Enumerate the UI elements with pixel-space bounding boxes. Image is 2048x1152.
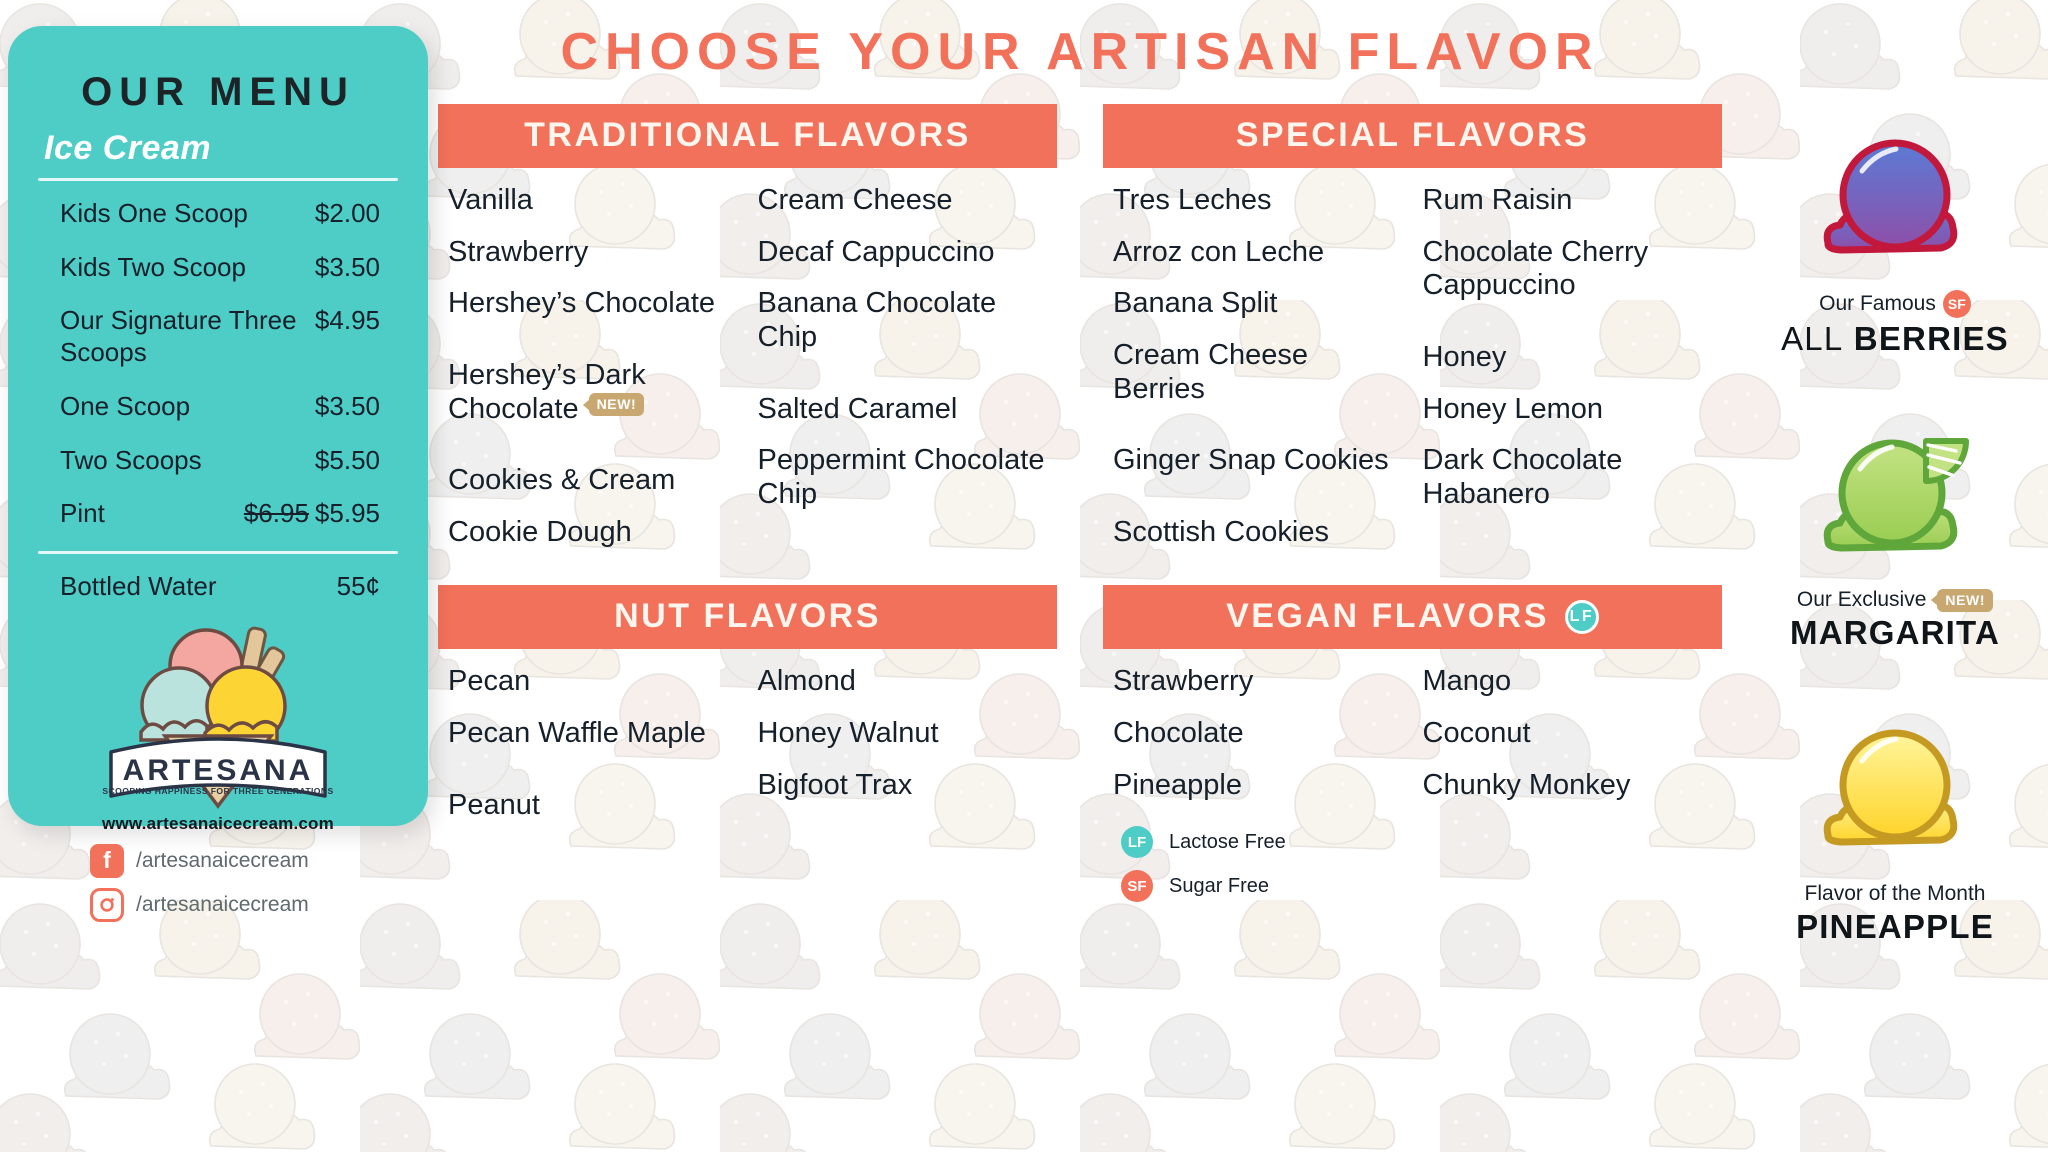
- price-item-name: Two Scoops: [60, 445, 202, 477]
- section-title-vegan: VEGAN FLAVORS: [1226, 597, 1549, 636]
- flavor-name: Salted Caramel: [758, 393, 958, 425]
- flavor-name: Rum Raisin: [1423, 184, 1573, 216]
- section-vegan: VEGAN FLAVORS LF StrawberryChocolatePine…: [1103, 585, 1722, 914]
- instagram-icon: [90, 888, 124, 922]
- price-item-name: Kids Two Scoop: [60, 252, 246, 284]
- price-item-name: Kids One Scoop: [60, 198, 248, 230]
- flavor-name: Honey Lemon: [1423, 393, 1604, 425]
- flavor-grid-special: Tres LechesArroz con LecheBanana SplitCr…: [1103, 168, 1722, 567]
- section-title-traditional: TRADITIONAL FLAVORS: [524, 116, 971, 155]
- price-item-value: $5.50: [315, 445, 380, 477]
- logo-tagline-text: SCOOPING HAPPINESS FOR THREE GENERATIONS: [102, 786, 333, 796]
- flavor-name: Arroz con Leche: [1113, 236, 1324, 268]
- flavor-name: Almond: [758, 665, 856, 697]
- flavor-name: Cookie Dough: [448, 516, 632, 548]
- all-berries-name-thin: ALL: [1781, 320, 1843, 357]
- logo-brand-text: ARTESANA: [123, 754, 314, 787]
- flavor-name: Honey: [1423, 341, 1507, 373]
- section-header-vegan: VEGAN FLAVORS LF: [1103, 585, 1722, 649]
- lactose-free-icon: LF: [1121, 826, 1153, 858]
- flavor-item[interactable]: Vanilla: [448, 184, 740, 218]
- price-row: Pint$6.95$5.95: [38, 487, 398, 541]
- flavor-item[interactable]: Hershey’s Dark ChocolateNEW!: [448, 359, 740, 426]
- flavor-item[interactable]: Strawberry: [448, 236, 740, 270]
- all-berries-name-bold: BERRIES: [1854, 320, 2009, 357]
- promo-margarita: Our Exclusive NEW! MARGARITA: [1745, 424, 2045, 652]
- legend-row: SFSugar Free: [1121, 870, 1722, 902]
- margarita-eyebrow-row: Our Exclusive NEW!: [1745, 588, 2045, 612]
- flavor-item[interactable]: Banana Chocolate Chip: [758, 287, 1050, 354]
- flavor-name: Chocolate Cherry Cappuccino: [1423, 236, 1649, 302]
- all-berries-eyebrow: Our Famous: [1819, 292, 1936, 316]
- flavor-board: CHOOSE YOUR ARTISAN FLAVOR TRADITIONAL F…: [430, 0, 1730, 1152]
- flavor-item[interactable]: Cream Cheese: [758, 184, 1050, 218]
- all-berries-eyebrow-row: Our Famous SF: [1745, 290, 2045, 318]
- flavor-name: Banana Split: [1113, 287, 1277, 319]
- facebook-handle: /artesanaicecream: [136, 849, 309, 873]
- flavor-name: Decaf Cappuccino: [758, 236, 995, 268]
- flavor-name: Hershey’s Chocolate: [448, 287, 715, 319]
- flavor-item[interactable]: Hershey’s Chocolate: [448, 287, 740, 321]
- all-berries-name: ALL BERRIES: [1745, 320, 2045, 358]
- flavor-column-left: StrawberryChocolatePineapple: [1113, 665, 1405, 820]
- price-item-value: $4.95: [315, 305, 380, 337]
- flavor-item[interactable]: Coconut: [1423, 717, 1715, 751]
- flavor-name: Strawberry: [448, 236, 588, 268]
- pineapple-name: PINEAPPLE: [1745, 908, 2045, 946]
- flavor-item[interactable]: Pecan Waffle Maple: [448, 717, 740, 751]
- promo-pineapple: Flavor of the Month PINEAPPLE: [1745, 718, 2045, 946]
- website-url[interactable]: www.artesanaicecream.com: [38, 814, 398, 834]
- lactose-free-icon: LF: [1565, 600, 1599, 634]
- flavor-name: Peanut: [448, 789, 540, 821]
- promo-column: Our Famous SF ALL BERRIES: [1745, 0, 2045, 1152]
- section-traditional: TRADITIONAL FLAVORS VanillaStrawberryHer…: [438, 104, 1057, 567]
- pineapple-eyebrow-row: Flavor of the Month: [1745, 882, 2045, 906]
- all-berries-scoop-icon: [1745, 126, 2045, 286]
- price-item-name: Bottled Water: [60, 571, 217, 603]
- section-special: SPECIAL FLAVORS Tres LechesArroz con Lec…: [1103, 104, 1722, 567]
- sugar-free-icon: SF: [1121, 870, 1153, 902]
- flavor-item[interactable]: Salted Caramel: [758, 393, 1050, 427]
- flavor-item[interactable]: Honey Lemon: [1423, 393, 1715, 427]
- price-item-value: $3.50: [315, 252, 380, 284]
- flavor-name: Banana Chocolate Chip: [758, 287, 997, 353]
- legend-label: Lactose Free: [1169, 831, 1286, 854]
- flavor-name: Honey Walnut: [758, 717, 939, 749]
- flavor-item[interactable]: Almond: [758, 665, 1050, 699]
- flavor-item[interactable]: Pineapple: [1113, 769, 1405, 803]
- price-row: Our Signature Three Scoops$4.95: [38, 294, 398, 379]
- flavor-item[interactable]: Chocolate: [1113, 717, 1405, 751]
- margarita-eyebrow: Our Exclusive: [1797, 588, 1927, 612]
- flavor-item[interactable]: Chunky Monkey: [1423, 769, 1715, 803]
- price-item-value: $3.50: [315, 391, 380, 423]
- extra-row: Bottled Water55¢: [38, 560, 398, 614]
- price-row: Kids Two Scoop$3.50: [38, 241, 398, 295]
- flavor-item[interactable]: Honey Walnut: [758, 717, 1050, 751]
- flavor-name: Chocolate: [1113, 717, 1244, 749]
- legend-row: LFLactose Free: [1121, 826, 1722, 858]
- price-row: Two Scoops$5.50: [38, 434, 398, 488]
- main-headline: CHOOSE YOUR ARTISAN FLAVOR: [430, 22, 1730, 82]
- flavor-column-left: PecanPecan Waffle MaplePeanut: [448, 665, 740, 840]
- pineapple-scoop-icon: [1745, 718, 2045, 878]
- price-item-value: 55¢: [337, 571, 380, 603]
- flavor-item[interactable]: Bigfoot Trax: [758, 769, 1050, 803]
- brand-logo: ARTESANA SCOOPING HAPPINESS FOR THREE GE…: [38, 620, 398, 810]
- flavor-name: Dark Chocolate Habanero: [1423, 444, 1623, 510]
- menu-sidebar: OUR MENU Ice Cream Kids One Scoop$2.00Ki…: [8, 26, 428, 826]
- flavor-grid-nut: PecanPecan Waffle MaplePeanut AlmondHone…: [438, 649, 1057, 840]
- facebook-icon: f: [90, 844, 124, 878]
- instagram-handle: /artesanaicecream: [136, 893, 309, 917]
- price-list: Kids One Scoop$2.00Kids Two Scoop$3.50Ou…: [38, 187, 398, 541]
- flavor-name: Strawberry: [1113, 665, 1253, 697]
- flavor-grid-vegan: StrawberryChocolatePineapple MangoCoconu…: [1103, 649, 1722, 820]
- section-header-special: SPECIAL FLAVORS: [1103, 104, 1722, 168]
- price-item-name: Our Signature Three Scoops: [60, 305, 310, 368]
- price-item-value: $6.95$5.95: [244, 498, 380, 530]
- flavor-item[interactable]: Tres Leches: [1113, 184, 1405, 218]
- flavor-item[interactable]: Rum Raisin: [1423, 184, 1715, 218]
- flavor-item[interactable]: Ginger Snap Cookies: [1113, 444, 1405, 478]
- sidebar-divider-top: [38, 178, 398, 181]
- price-item-name: One Scoop: [60, 391, 190, 423]
- section-title-nut: NUT FLAVORS: [614, 597, 881, 636]
- flavor-name: Peppermint Chocolate Chip: [758, 444, 1045, 510]
- margarita-name: MARGARITA: [1745, 614, 2045, 652]
- sugar-free-icon: SF: [1943, 290, 1971, 318]
- flavor-item[interactable]: Arroz con Leche: [1113, 236, 1405, 270]
- promo-all-berries: Our Famous SF ALL BERRIES: [1745, 126, 2045, 358]
- flavor-item[interactable]: Pecan: [448, 665, 740, 699]
- flavor-item[interactable]: Honey: [1423, 341, 1715, 375]
- flavor-name: Tres Leches: [1113, 184, 1272, 216]
- flavor-item[interactable]: Strawberry: [1113, 665, 1405, 699]
- flavor-item[interactable]: Decaf Cappuccino: [758, 236, 1050, 270]
- new-badge-icon: NEW!: [589, 393, 645, 416]
- flavor-name: Scottish Cookies: [1113, 516, 1329, 548]
- price-item-value: $2.00: [315, 198, 380, 230]
- section-nut: NUT FLAVORS PecanPecan Waffle MaplePeanu…: [438, 585, 1057, 914]
- legend-label: Sugar Free: [1169, 875, 1269, 898]
- price-item-old-value: $6.95: [244, 498, 309, 528]
- flavor-name: Bigfoot Trax: [758, 769, 913, 801]
- sidebar-divider-bottom: [38, 551, 398, 554]
- flavor-item[interactable]: Scottish Cookies: [1113, 516, 1405, 550]
- flavor-item[interactable]: Dark Chocolate Habanero: [1423, 444, 1715, 511]
- social-instagram[interactable]: /artesanaicecream: [90, 888, 398, 922]
- flavor-grid-traditional: VanillaStrawberryHershey’s ChocolateHers…: [438, 168, 1057, 567]
- pineapple-eyebrow: Flavor of the Month: [1805, 882, 1986, 906]
- price-item-name: Pint: [60, 498, 105, 530]
- section-title-special: SPECIAL FLAVORS: [1236, 116, 1590, 155]
- flavor-item[interactable]: Cookie Dough: [448, 516, 740, 550]
- flavor-name: Ginger Snap Cookies: [1113, 444, 1389, 476]
- flavor-item[interactable]: Peppermint Chocolate Chip: [758, 444, 1050, 511]
- flavor-column-right: AlmondHoney WalnutBigfoot Trax: [758, 665, 1050, 840]
- extras-list: Bottled Water55¢: [38, 560, 398, 614]
- flavor-item[interactable]: Chocolate Cherry Cappuccino: [1423, 236, 1715, 303]
- section-header-traditional: TRADITIONAL FLAVORS: [438, 104, 1057, 168]
- flavor-name: Chunky Monkey: [1423, 769, 1631, 801]
- flavor-item[interactable]: Cookies & Cream: [448, 464, 740, 498]
- flavor-column-right: Cream CheeseDecaf CappuccinoBanana Choco…: [758, 184, 1050, 567]
- flavor-name: Coconut: [1423, 717, 1531, 749]
- flavor-column-right: Rum RaisinChocolate Cherry CappuccinoHon…: [1423, 184, 1715, 567]
- flavor-name: Vanilla: [448, 184, 533, 216]
- flavor-item[interactable]: Cream Cheese Berries: [1113, 339, 1405, 406]
- flavor-name: Pecan Waffle Maple: [448, 717, 706, 749]
- flavor-name: Pineapple: [1113, 769, 1242, 801]
- flavor-name: Mango: [1423, 665, 1512, 697]
- section-header-nut: NUT FLAVORS: [438, 585, 1057, 649]
- flavor-item[interactable]: Mango: [1423, 665, 1715, 699]
- flavor-name: Cream Cheese Berries: [1113, 339, 1308, 405]
- flavor-column-right: MangoCoconutChunky Monkey: [1423, 665, 1715, 820]
- flavor-name: Cookies & Cream: [448, 464, 675, 496]
- social-facebook[interactable]: f /artesanaicecream: [90, 844, 398, 878]
- legend: LFLactose FreeSFSugar Free: [1115, 826, 1722, 902]
- flavor-name: Cream Cheese: [758, 184, 953, 216]
- flavor-column-left: Tres LechesArroz con LecheBanana SplitCr…: [1113, 184, 1405, 567]
- margarita-scoop-icon: [1745, 424, 2045, 584]
- menu-subtitle: Ice Cream: [44, 129, 398, 168]
- new-badge-icon: NEW!: [1937, 589, 1993, 612]
- flavor-name: Pecan: [448, 665, 530, 697]
- page-title: OUR MENU: [38, 70, 398, 115]
- price-row: Kids One Scoop$2.00: [38, 187, 398, 241]
- flavor-item[interactable]: Peanut: [448, 789, 740, 823]
- flavor-item[interactable]: Banana Split: [1113, 287, 1405, 321]
- price-row: One Scoop$3.50: [38, 380, 398, 434]
- flavor-column-left: VanillaStrawberryHershey’s ChocolateHers…: [448, 184, 740, 567]
